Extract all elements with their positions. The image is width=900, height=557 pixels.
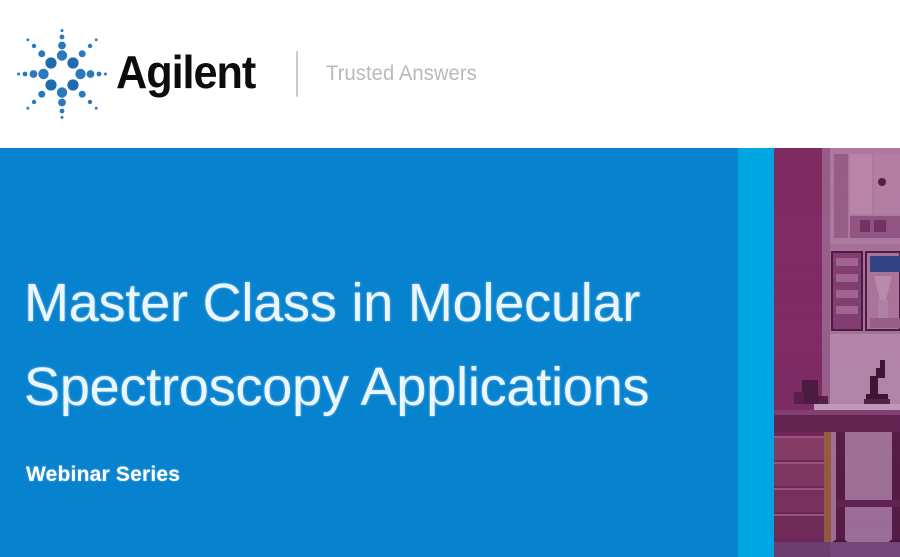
banner-copy: Master Class in Molecular Spectroscopy A… xyxy=(24,148,714,557)
agilent-wordmark: Agilent xyxy=(116,49,255,99)
banner-headline-line-2: Spectroscopy Applications xyxy=(24,344,649,430)
lab-photo xyxy=(774,148,900,557)
brand-divider xyxy=(296,51,298,97)
hero-banner: Master Class in Molecular Spectroscopy A… xyxy=(0,148,900,557)
banner-subtitle: Webinar Series xyxy=(26,462,180,488)
banner-headline-line-1: Master Class in Molecular xyxy=(24,260,640,346)
accent-stripe xyxy=(738,148,774,557)
lab-photo-panel xyxy=(774,148,900,557)
agilent-starburst-logo xyxy=(14,26,110,122)
brand-lockup[interactable]: Agilent Trusted Answers xyxy=(14,26,483,122)
webinar-banner-page: Agilent Trusted Answers xyxy=(0,0,900,557)
brand-tagline: Trusted Answers xyxy=(326,62,477,86)
page-header: Agilent Trusted Answers xyxy=(0,0,900,148)
